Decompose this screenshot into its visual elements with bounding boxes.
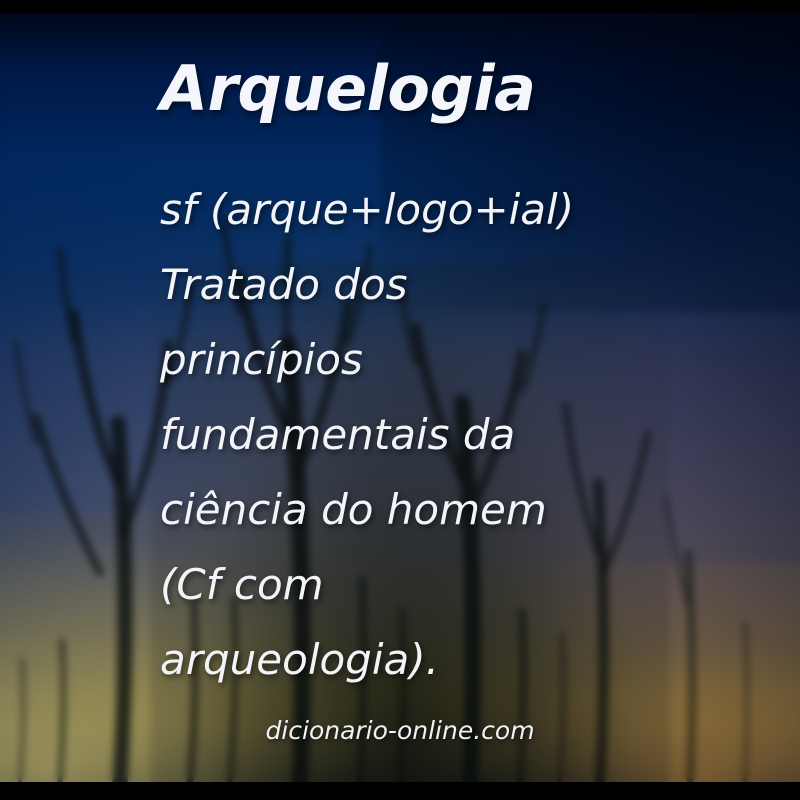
letterbox-bottom-bar <box>0 782 800 800</box>
definition-line: sf (arque+logo+ial) <box>160 172 630 247</box>
text-layer: Arquelogia sf (arque+logo+ial) Tratado d… <box>0 0 800 800</box>
definition-block: sf (arque+logo+ial) Tratado dos princípi… <box>160 172 630 697</box>
definition-line: Tratado dos <box>160 247 630 322</box>
definition-line: arqueologia). <box>160 622 630 697</box>
definition-line: princípios <box>160 322 630 397</box>
definition-card: Arquelogia sf (arque+logo+ial) Tratado d… <box>0 0 800 800</box>
headword: Arquelogia <box>160 52 535 125</box>
source-watermark: dicionario-online.com <box>0 716 800 745</box>
letterbox-top-bar <box>0 0 800 13</box>
definition-line: (Cf com <box>160 547 630 622</box>
definition-line: fundamentais da <box>160 397 630 472</box>
definition-line: ciência do homem <box>160 472 630 547</box>
